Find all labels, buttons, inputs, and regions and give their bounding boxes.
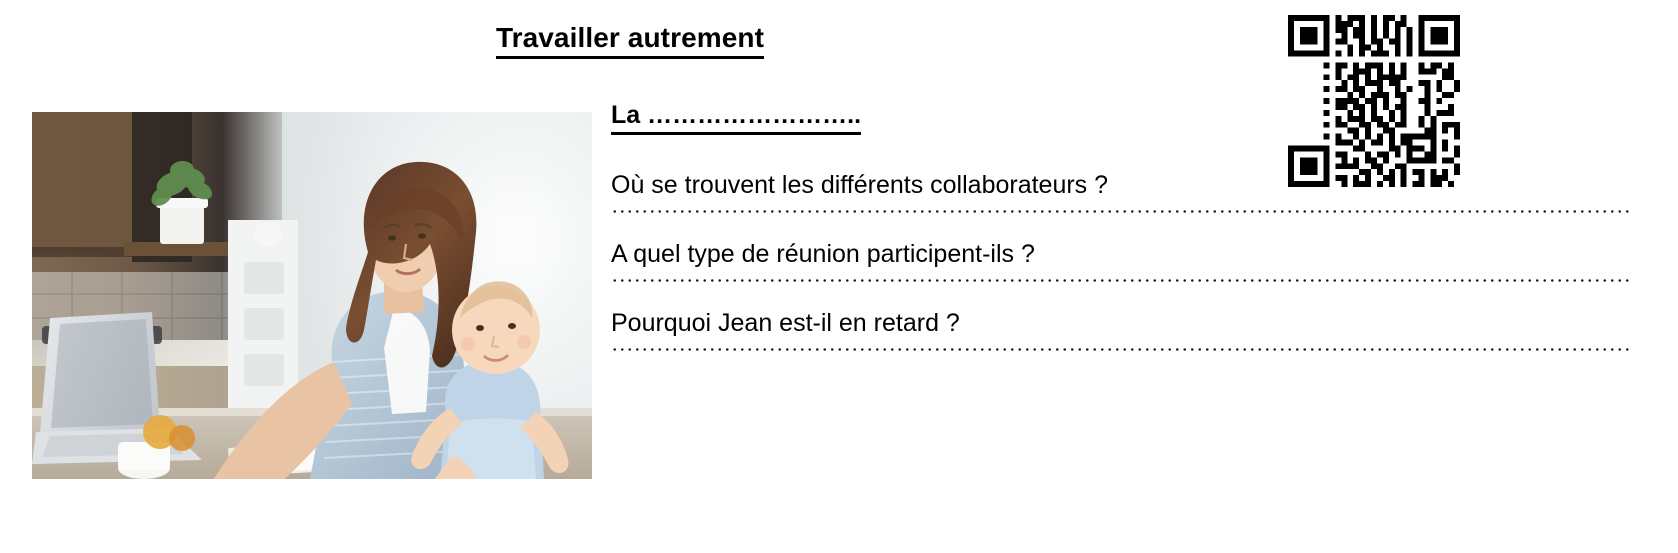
answer-line-1[interactable] [611,210,1632,213]
photo-graphic [32,112,592,479]
answer-line-2[interactable] [611,279,1632,282]
question-text-3: Pourquoi Jean est-il en retard ? [611,307,1635,339]
question-text-2: A quel type de réunion participent-ils ? [611,238,1635,270]
page-title-text: Travailler autrement [496,22,764,59]
question-text-1: Où se trouvent les différents collaborat… [611,169,1635,201]
answer-line-3[interactable] [611,348,1632,351]
qa-block-2: A quel type de réunion participent-ils ? [611,238,1635,282]
section-heading: La …………………….. [611,100,861,135]
woman-with-baby-at-laptop-photo [32,112,592,479]
qa-block-3: Pourquoi Jean est-il en retard ? [611,307,1635,351]
qa-block-1: Où se trouvent les différents collaborat… [611,169,1635,213]
page-title: Travailler autrement [0,22,1260,54]
worksheet-question-column: La …………………….. Où se trouvent les différe… [611,100,1635,376]
